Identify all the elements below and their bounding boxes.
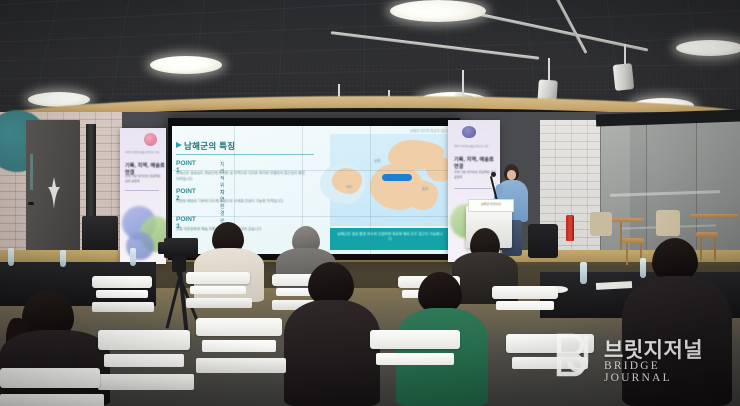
chair-background bbox=[656, 210, 680, 236]
map-label: 통영 bbox=[422, 186, 428, 191]
triangle-bullet-icon bbox=[176, 142, 182, 148]
slide-header-right: 남해의 지리적 특성과 접근성 bbox=[332, 128, 450, 133]
point-body: 남해군은 경상남도 최남단에 위치한 섬 지역으로 다리로 육지와 연결되어 접… bbox=[176, 171, 306, 182]
banner-tiny-text: 2025 지역문화 예술 아카이브 사업 bbox=[454, 144, 496, 148]
watermark: 브릿지저널 BRIDGE JOURNAL bbox=[556, 332, 732, 384]
ceiling-light bbox=[150, 56, 222, 74]
photo-scene: 남해의 지리적 특성과 접근성 남해군의 특징 POINT 1 지리적 위치 남… bbox=[0, 0, 740, 406]
speaker-face bbox=[507, 170, 516, 180]
bridge-journal-logo-icon bbox=[556, 332, 602, 378]
bar-stool-leg bbox=[700, 237, 702, 261]
exit-arrow-icon bbox=[46, 175, 62, 209]
slide-title-underline bbox=[176, 154, 314, 155]
water-bottle bbox=[580, 262, 587, 284]
banner-accent-dot bbox=[144, 133, 157, 146]
banner-tiny-text: 2025 지역문화 예술 아카이브 사업 bbox=[125, 150, 163, 154]
ceiling-light bbox=[390, 0, 486, 22]
banner-subtitle: 지역 기반 아카이브 프로젝트 성과 공유회 bbox=[125, 174, 163, 183]
slide-map-caption-text: 남해군은 경남 통영·여수와 인접하며 육로와 해로 모두 접근이 가능합니다 bbox=[330, 228, 450, 247]
bar-table-leg bbox=[620, 222, 622, 250]
camera-lens-hood bbox=[158, 242, 168, 254]
bar-stool-leg bbox=[626, 243, 628, 265]
point-body: 따뜻한 해양성 기후와 다도해 풍광으로 사계절 관광이 가능한 지역입니다 bbox=[176, 199, 306, 205]
bar-table bbox=[690, 214, 738, 218]
water-bottle bbox=[130, 248, 136, 266]
podium-sign: 남해군 아카이브 bbox=[468, 199, 514, 212]
map-location-pill bbox=[382, 174, 412, 181]
microphone-icon bbox=[491, 172, 496, 177]
podium-sign-text: 남해군 아카이브 bbox=[469, 200, 513, 206]
banner-accent-dot bbox=[462, 126, 476, 138]
slide-map-caption-box: 남해군은 경남 통영·여수와 인접하며 육로와 해로 모두 접근이 가능합니다 bbox=[330, 228, 450, 250]
bar-stool-leg bbox=[714, 237, 716, 261]
subwoofer bbox=[82, 216, 118, 254]
spotlight-arm bbox=[462, 70, 464, 96]
chair-background bbox=[590, 212, 612, 236]
fire-extinguisher bbox=[566, 215, 574, 241]
map-label: 남해 bbox=[374, 158, 380, 163]
water-bottle bbox=[60, 250, 66, 267]
equipment-case bbox=[528, 224, 558, 258]
slide-title: 남해군의 특징 bbox=[184, 140, 235, 152]
water-bottle bbox=[8, 248, 14, 266]
ceiling-light bbox=[676, 40, 740, 56]
track-spotlight[interactable] bbox=[613, 63, 635, 91]
map-label: 여수 bbox=[346, 184, 352, 189]
video-camera bbox=[164, 238, 198, 258]
spotlight-arm bbox=[548, 58, 550, 82]
ceiling bbox=[0, 0, 740, 118]
watermark-english: BRIDGE JOURNAL bbox=[604, 360, 732, 384]
water-bottle bbox=[640, 258, 646, 278]
slide-map-graphic: 여수 남해 통영 bbox=[330, 134, 450, 226]
banner-title: 기록, 지역, 예술로 연결 bbox=[454, 156, 500, 170]
